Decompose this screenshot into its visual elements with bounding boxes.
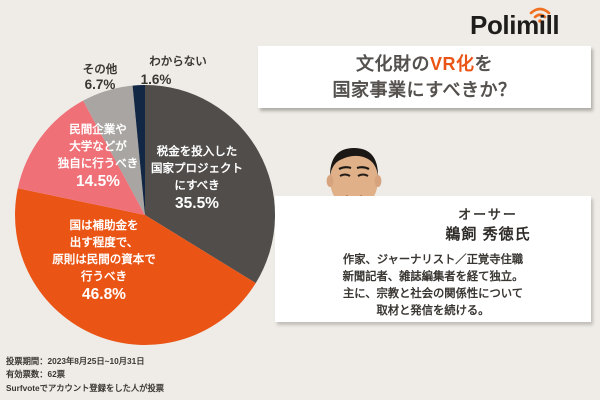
poll-question-line-2: 国家事業にすべきか？ (333, 77, 517, 103)
pie-label-line: その他 (83, 62, 118, 76)
poll-question-line1-post: を (475, 54, 494, 74)
pie-label-line: 独自に行うべき (58, 156, 139, 170)
pie-label-line: 国家プロジェクト (151, 161, 243, 175)
pie-label-line: 出す程度で、 (70, 235, 139, 249)
author-bio-line: 取材と発信を続ける。 (275, 303, 591, 320)
infographic-root: Polimill 文化財のVR化を 国家事業にすべきか？ (0, 0, 600, 400)
pie-value-label: 1.6% (141, 72, 172, 87)
author-bio-line: 作家、ジャーナリスト／正覚寺住職 (275, 252, 591, 269)
pie-label-line: 民間企業や (69, 122, 127, 136)
ear-left (327, 175, 334, 187)
poll-source-line: Surfvoteでアカウント登録をした人が投票 (6, 382, 286, 395)
pie-value-label: 46.8% (82, 286, 126, 303)
pie-label-line: 原則は民間の資本で (52, 252, 156, 266)
pie-value-label: 35.5% (175, 195, 219, 212)
logo-wordmark: Polimill (470, 10, 559, 38)
author-bio: 作家、ジャーナリスト／正覚寺住職 新聞記者、雑誌編集者を経て独立。 主に、宗教と… (275, 252, 591, 321)
pie-label-line: 国は補助金を (70, 218, 139, 232)
pie-label-other: その他 6.7% (83, 62, 118, 92)
author-name: 鵜飼 秀徳氏 (393, 224, 583, 245)
author-bio-line: 新聞記者、雑誌編集者を経て独立。 (275, 269, 591, 286)
author-bio-line: 主に、宗教と社会の関係性について (275, 286, 591, 303)
pie-label-line: 行うべき (80, 269, 127, 283)
poll-results-pie-chart: 税金を投入した 国家プロジェクト にすべき 35.5% 国は補助金を 出す程度で… (0, 0, 290, 360)
pie-label-line: わからない (149, 55, 207, 68)
poll-question-banner: 文化財のVR化を 国家事業にすべきか？ (258, 46, 591, 108)
pie-value-label: 6.7% (85, 77, 116, 92)
poll-question-line1-pre: 文化財の (356, 54, 430, 74)
pie-label-line: にすべき (174, 179, 219, 192)
author-info-panel: オーサー 鵜飼 秀徳氏 作家、ジャーナリスト／正覚寺住職 新聞記者、雑誌編集者を… (275, 196, 591, 322)
polimill-logo: Polimill (468, 4, 590, 38)
pie-chart-svg: 税金を投入した 国家プロジェクト にすべき 35.5% 国は補助金を 出す程度で… (0, 0, 290, 360)
pie-label-line: 税金を投入した (157, 144, 238, 158)
pie-value-label: 14.5% (76, 173, 120, 190)
poll-question-line-1: 文化財のVR化を (356, 51, 493, 77)
ear-right (375, 175, 382, 187)
pie-label-line: 大学などが (69, 139, 127, 153)
author-heading: オーサー 鵜飼 秀徳氏 (393, 206, 583, 245)
poll-question-vr-accent: VR化 (430, 54, 475, 74)
poll-metadata-footer: 投票期間：2023年8月25日~10月31日 有効票数：62票 Surfvote… (6, 355, 286, 395)
poll-period-line: 投票期間：2023年8月25日~10月31日 (6, 355, 286, 368)
pie-label-dont-know: わからない 1.6% (141, 55, 207, 87)
poll-valid-votes-line: 有効票数：62票 (6, 368, 286, 381)
author-role-label: オーサー (393, 206, 583, 224)
polimill-logo-svg: Polimill (468, 4, 590, 38)
